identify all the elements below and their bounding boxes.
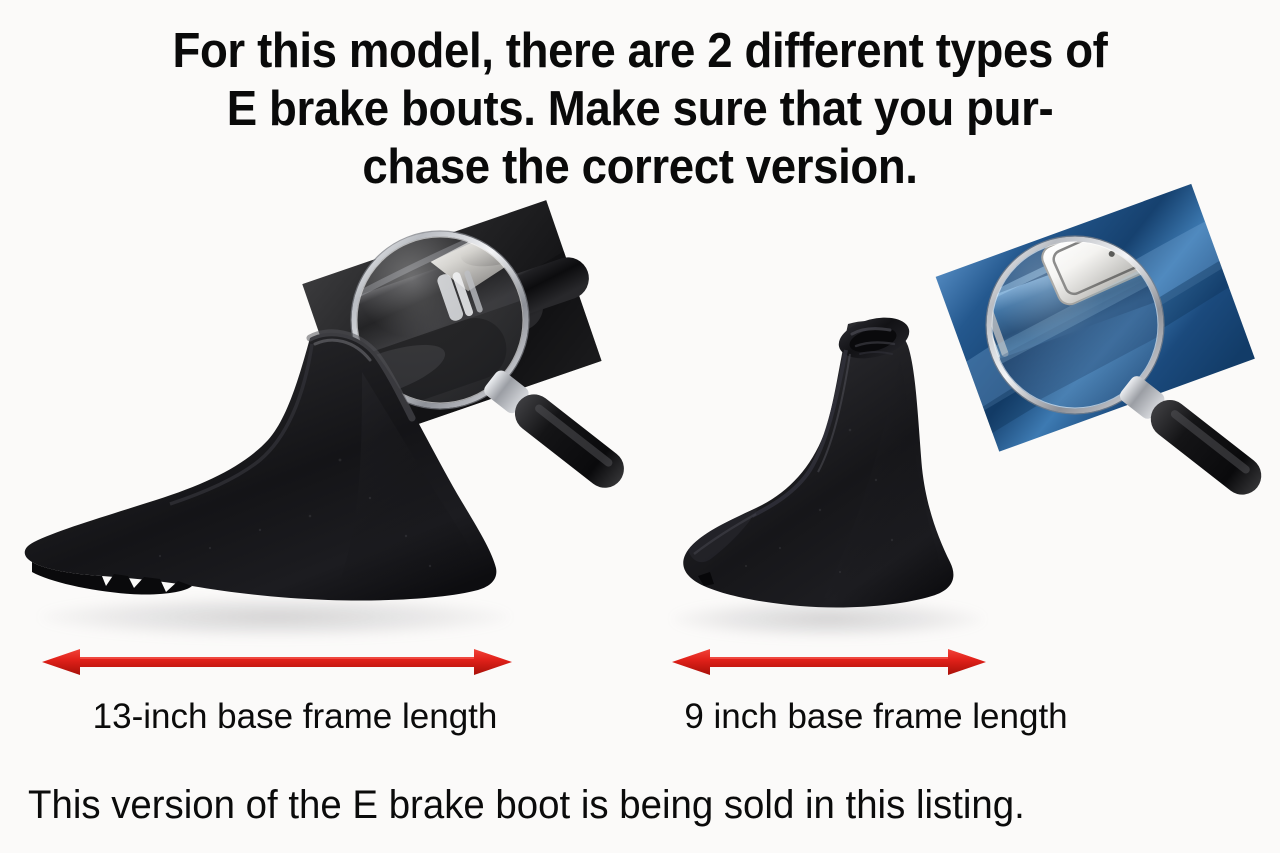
footer-note: This version of the E brake boot is bein… [28, 782, 1203, 828]
right-lever-photo-card [940, 195, 1250, 565]
headline-text: For this model, there are 2 different ty… [110, 22, 1170, 196]
right-ebrake-boot [660, 310, 970, 622]
right-length-caption: 9 inch base frame length [660, 697, 1092, 737]
right-length-arrow [666, 645, 992, 679]
product-comparison-image: For this model, there are 2 different ty… [0, 0, 1280, 853]
left-length-arrow [36, 645, 518, 679]
left-ebrake-boot [10, 320, 530, 620]
left-length-caption: 13-inch base frame length [40, 697, 550, 737]
